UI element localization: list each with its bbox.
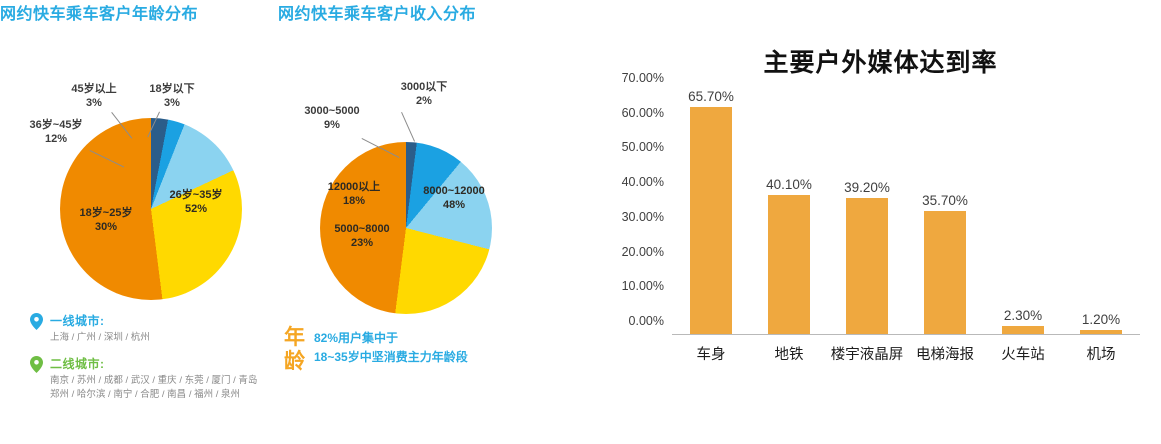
bar[interactable] — [768, 195, 810, 334]
age-pie-chart: 26岁~35岁 52% 18岁~25岁 30% 36岁~45岁 12% 45岁以… — [0, 0, 278, 310]
bar-value-label: 35.70% — [922, 193, 968, 208]
bar-chart-plot-area: 0.00%10.00%20.00%30.00%40.00%50.00%60.00… — [672, 92, 1140, 335]
bar-slot: 40.10% — [750, 92, 828, 334]
age-slice-label-36-45: 36岁~45岁 12% — [20, 118, 92, 146]
bar-slot: 39.20% — [828, 92, 906, 334]
tier2-city-row: 二线城市: 南京 / 苏州 / 成都 / 武汉 / 重庆 / 东莞 / 厦门 /… — [28, 355, 278, 403]
tier1-city-row: 一线城市: 上海 / 广州 / 深圳 / 杭州 — [28, 312, 278, 346]
income-slice-3000-5000-value: 9% — [290, 118, 374, 132]
y-axis-tick: 30.00% — [622, 210, 664, 224]
tier2-heading: 二线城市: — [50, 355, 278, 372]
bar-value-label: 2.30% — [1004, 308, 1042, 323]
bar-slot: 65.70% — [672, 92, 750, 334]
income-slice-5000-8000-value: 23% — [316, 236, 408, 250]
income-pie-chart: 8000~12000 48% 5000~8000 23% 12000以上 18%… — [278, 0, 578, 320]
bar-series: 65.70%40.10%39.20%35.70%2.30%1.20% — [672, 92, 1140, 334]
age-callout: 年 龄 82%用户集中于 18~35岁中坚消费主力年龄段 — [284, 326, 468, 373]
bar-slot: 35.70% — [906, 92, 984, 334]
income-slice-label-3000-5000: 3000~5000 9% — [290, 104, 374, 132]
age-slice-45plus-category: 45岁以上 — [71, 83, 116, 95]
age-slice-label-18-25: 18岁~25岁 30% — [64, 206, 148, 234]
age-slice-label-26-35: 26岁~35岁 52% — [154, 188, 238, 216]
bar[interactable] — [846, 198, 888, 334]
age-slice-label-45plus: 45岁以上 3% — [62, 82, 126, 110]
age-callout-kanji: 年 龄 — [284, 326, 305, 373]
income-slice-8000-12000-value: 48% — [406, 198, 502, 212]
x-axis-label: 车身 — [672, 343, 750, 364]
location-pin-icon — [30, 313, 43, 330]
y-axis-tick: 40.00% — [622, 175, 664, 189]
age-slice-36-45-category: 36岁~45岁 — [30, 119, 83, 131]
income-slice-label-12000plus: 12000以上 18% — [310, 180, 398, 208]
infographic-page: 网约快车乘车客户年龄分布 26岁~35岁 52% 18岁~25岁 30% 36岁… — [0, 0, 1161, 444]
age-callout-text-line2: 18~35岁中坚消费主力年龄段 — [314, 348, 468, 367]
income-distribution-panel: 网约快车乘车客户收入分布 8000~12000 48% 5000~8000 23… — [278, 0, 578, 444]
city-legend: 一线城市: 上海 / 广州 / 深圳 / 杭州 二线城市: 南京 / 苏州 / … — [28, 312, 278, 412]
y-axis-tick: 20.00% — [622, 245, 664, 259]
age-callout-text: 82%用户集中于 18~35岁中坚消费主力年龄段 — [314, 326, 468, 366]
y-axis-tick: 70.00% — [622, 71, 664, 85]
income-slice-under3000-category: 3000以下 — [401, 81, 447, 93]
income-slice-12000plus-value: 18% — [310, 194, 398, 208]
income-slice-label-under3000: 3000以下 2% — [388, 80, 460, 108]
age-slice-45plus-value: 3% — [62, 96, 126, 110]
outdoor-media-reach-panel: 主要户外媒体达到率 0.00%10.00%20.00%30.00%40.00%5… — [600, 0, 1161, 444]
income-slice-8000-12000-category: 8000~12000 — [423, 185, 484, 197]
age-slice-under18-category: 18岁以下 — [149, 83, 194, 95]
bar-chart-title: 主要户外媒体达到率 — [600, 43, 1161, 79]
x-axis-label: 楼宇液晶屏 — [828, 343, 906, 364]
y-axis-tick: 0.00% — [629, 314, 664, 328]
age-slice-label-under18: 18岁以下 3% — [140, 82, 204, 110]
y-axis-tick: 10.00% — [622, 279, 664, 293]
x-axis-labels: 车身地铁楼宇液晶屏电梯海报火车站机场 — [672, 343, 1140, 364]
age-slice-36-45-value: 12% — [20, 132, 92, 146]
bar-value-label: 1.20% — [1082, 312, 1120, 327]
y-axis-tick: 50.00% — [622, 140, 664, 154]
bar[interactable] — [690, 107, 732, 334]
bar-slot: 1.20% — [1062, 92, 1140, 334]
location-pin-icon — [30, 356, 43, 373]
income-slice-12000plus-category: 12000以上 — [328, 181, 381, 193]
income-leader-line-under3000 — [401, 112, 415, 142]
tier1-heading: 一线城市: — [50, 312, 278, 329]
tier1-city-list: 上海 / 广州 / 深圳 / 杭州 — [50, 331, 278, 346]
age-slice-18-25-category: 18岁~25岁 — [80, 207, 133, 219]
income-slice-label-5000-8000: 5000~8000 23% — [316, 222, 408, 250]
age-callout-kanji-line1: 年 — [284, 326, 305, 350]
age-slice-26-35-category: 26岁~35岁 — [170, 189, 223, 201]
tier2-city-list-line1: 南京 / 苏州 / 成都 / 武汉 / 重庆 / 东莞 / 厦门 / 青岛 — [50, 374, 278, 389]
x-axis-label: 火车站 — [984, 343, 1062, 364]
x-axis-label: 机场 — [1062, 343, 1140, 364]
bar[interactable] — [1002, 326, 1044, 334]
income-slice-under3000-value: 2% — [388, 94, 460, 108]
bar-value-label: 40.10% — [766, 177, 812, 192]
age-slice-under18-value: 3% — [140, 96, 204, 110]
age-slice-18-25-value: 30% — [64, 220, 148, 234]
bar-value-label: 39.20% — [844, 180, 890, 195]
bar-slot: 2.30% — [984, 92, 1062, 334]
age-callout-text-line1: 82%用户集中于 — [314, 329, 468, 348]
bar[interactable] — [1080, 330, 1122, 334]
bar[interactable] — [924, 211, 966, 334]
income-slice-label-8000-12000: 8000~12000 48% — [406, 184, 502, 212]
age-distribution-panel: 网约快车乘车客户年龄分布 26岁~35岁 52% 18岁~25岁 30% 36岁… — [0, 0, 278, 444]
income-slice-5000-8000-category: 5000~8000 — [334, 223, 389, 235]
x-axis-label: 地铁 — [750, 343, 828, 364]
age-callout-kanji-line2: 龄 — [284, 350, 305, 374]
income-slice-3000-5000-category: 3000~5000 — [304, 105, 359, 117]
y-axis-tick: 60.00% — [622, 106, 664, 120]
bar-value-label: 65.70% — [688, 89, 734, 104]
x-axis-label: 电梯海报 — [906, 343, 984, 364]
x-axis-line — [672, 334, 1140, 335]
age-slice-26-35-value: 52% — [154, 202, 238, 216]
tier2-city-list-line2: 郑州 / 哈尔滨 / 南宁 / 合肥 / 南昌 / 福州 / 泉州 — [50, 388, 278, 403]
